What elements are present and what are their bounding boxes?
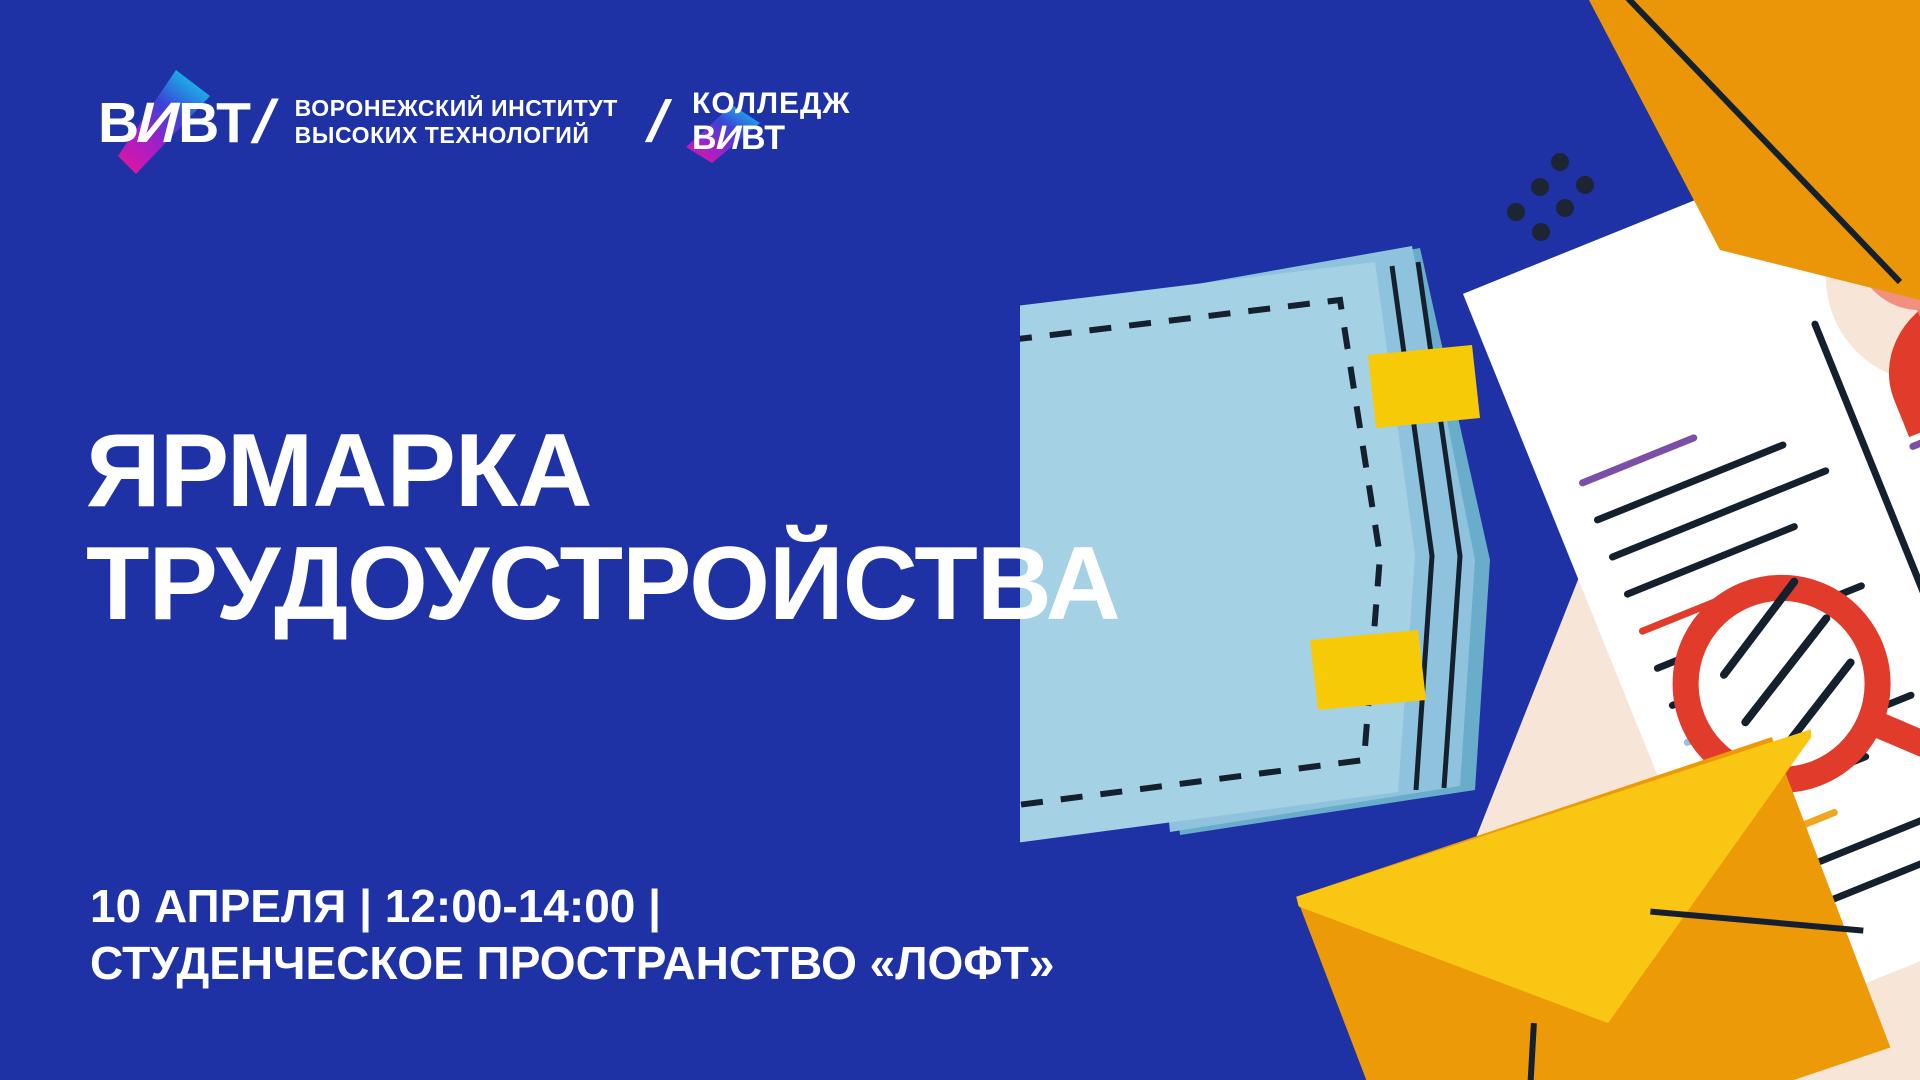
logo-slash: / — [247, 92, 281, 152]
yellow-sticky-note-bottom — [1310, 630, 1426, 710]
institute-name: ВОРОНЕЖСКИЙ ИНСТИТУТ ВЫСОКИХ ТЕХНОЛОГИЙ — [295, 95, 618, 148]
vivt-text: ВИВТ — [98, 91, 250, 155]
logo-divider-slash: / — [643, 99, 672, 145]
person-avatar — [1791, 132, 1920, 446]
cream-backdrop — [1270, 120, 1920, 1080]
poster-canvas: ВИВТ/ ВОРОНЕЖСКИЙ ИНСТИТУТ ВЫСОКИХ ТЕХНО… — [0, 0, 1920, 1080]
resume-text-lines — [1560, 225, 1920, 1011]
illustration-artwork — [1020, 0, 1920, 1080]
event-details: 10 АПРЕЛЯ | 12:00-14:00 | СТУДЕНЧЕСКОЕ П… — [90, 878, 1054, 991]
event-title: ЯРМАРКА ТРУДОУСТРОЙСТВА — [86, 415, 1120, 642]
dot-cluster — [1507, 153, 1594, 241]
brand-logo-bar: ВИВТ/ ВОРОНЕЖСКИЙ ИНСТИТУТ ВЫСОКИХ ТЕХНО… — [98, 86, 851, 158]
college-logo: КОЛЛЕДЖ ВИВТ — [692, 89, 851, 155]
yellow-sticky-note-top — [1368, 345, 1480, 428]
college-label-bottom: ВИВТ — [692, 121, 851, 155]
institute-logo: ВИВТ/ ВОРОНЕЖСКИЙ ИНСТИТУТ ВЫСОКИХ ТЕХНО… — [98, 92, 618, 152]
event-date-time: 10 АПРЕЛЯ | 12:00-14:00 | — [90, 878, 1054, 935]
event-venue: СТУДЕНЧЕСКОЕ ПРОСТРАНСТВО «ЛОФТ» — [90, 935, 1054, 992]
yellow-envelope — [1287, 727, 1904, 1080]
orange-envelope-flap — [1568, 0, 1920, 300]
resume-paper — [1463, 62, 1920, 1027]
title-line-1: ЯРМАРКА — [86, 415, 1120, 528]
title-line-2: ТРУДОУСТРОЙСТВА — [86, 528, 1120, 641]
red-magnifying-glass — [1657, 520, 1920, 916]
vivt-wordmark: ВИВТ/ — [98, 92, 273, 152]
college-label-top: КОЛЛЕДЖ — [692, 89, 851, 119]
